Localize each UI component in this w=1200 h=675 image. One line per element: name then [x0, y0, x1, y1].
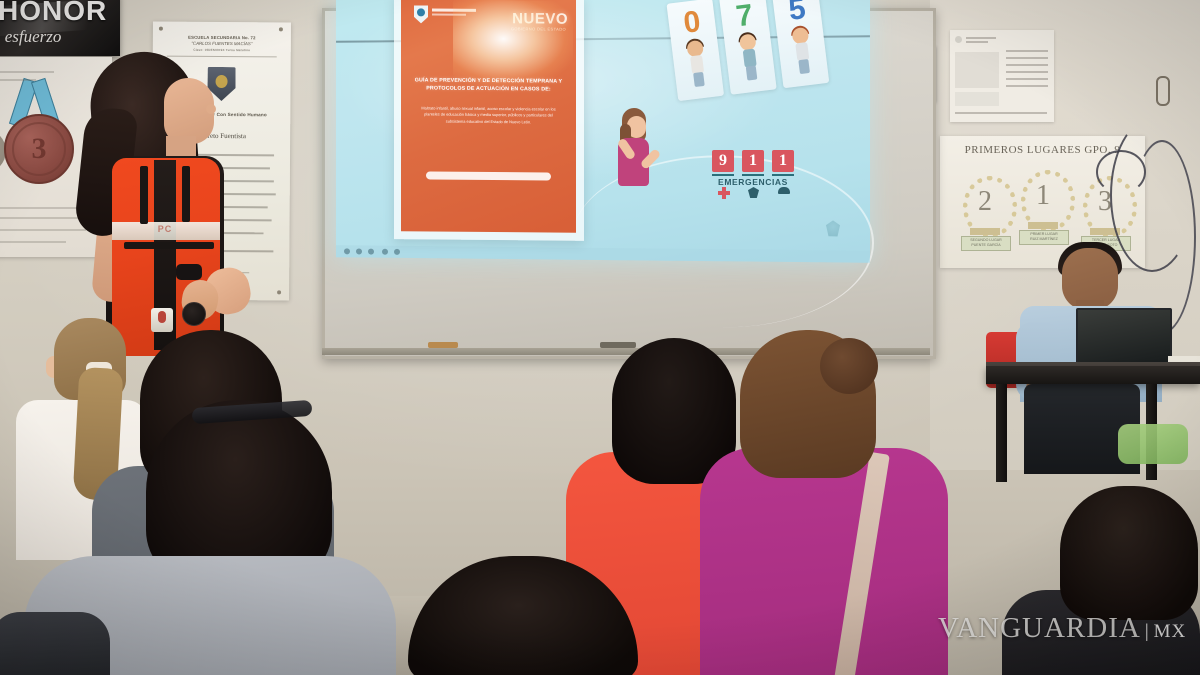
watermark-suffix: MX	[1154, 621, 1187, 643]
vest-strap	[124, 242, 214, 249]
poster-line	[0, 217, 80, 219]
kid-card: 7	[719, 0, 777, 95]
doc-line	[1006, 78, 1048, 80]
doc-line	[966, 37, 996, 39]
doc-line	[1006, 85, 1048, 87]
school-name-line1: ESCUELA SECUNDARIA No. 72	[153, 35, 291, 41]
cable-hook	[1156, 76, 1170, 106]
fire-truck-icon	[778, 187, 790, 197]
honor-banner-subtitle: a esfuerzo	[0, 27, 61, 47]
kid-legs	[693, 72, 705, 87]
watermark-separator: |	[1145, 621, 1150, 643]
poster-line	[0, 71, 54, 73]
police-shield-icon	[748, 187, 760, 197]
photo-scene: HONOR a esfuerzo 3 ESCUELA SECUNDARIA No…	[0, 0, 1200, 675]
hanging-cable	[1096, 150, 1146, 194]
trophy-base	[1028, 222, 1058, 229]
vest-strap	[182, 166, 190, 222]
poster-tack	[277, 290, 281, 294]
cartoon-woman-calling	[608, 108, 664, 204]
poster-line	[0, 241, 66, 243]
poster-line	[0, 229, 86, 231]
emergency-underline	[772, 174, 794, 176]
trophy-first: 1 PRIMER LUGAR RUIZ MARTÍNEZ	[1016, 164, 1070, 244]
whiteboard-marker[interactable]	[600, 342, 636, 348]
slide-body-text: Maltrato infantil, abuso sexual infantil…	[417, 105, 560, 125]
attendee-magenta-body	[700, 448, 948, 675]
trophy-base	[970, 228, 1000, 235]
whiteboard-eraser[interactable]	[428, 342, 458, 348]
watermark-main: VANGUARDIA	[938, 612, 1141, 645]
doc-block	[955, 92, 999, 106]
watermark: VANGUARDIA | MX	[938, 612, 1186, 645]
doc-line	[1006, 71, 1048, 73]
medical-cross-icon	[718, 187, 730, 197]
poster-tack	[279, 27, 283, 31]
emergency-911-logo: 9 1 1 EMERGENCIAS	[712, 150, 794, 198]
doc-table-block	[955, 52, 999, 88]
kid-card: 5	[772, 0, 830, 88]
presenter-vest-pocket-item	[151, 308, 173, 332]
trophy-plate-line2: RUIZ MARTÍNEZ	[1020, 237, 1068, 242]
doc-line	[966, 41, 988, 43]
emergency-digit: 1	[742, 150, 764, 172]
attendee-bottom-left-body	[0, 612, 110, 675]
presenter-wrist-accessory	[176, 264, 202, 280]
projector-lens-flare	[453, 0, 573, 87]
vest-strap	[140, 166, 148, 224]
pause-icon[interactable]	[356, 248, 362, 254]
emergency-underline	[712, 174, 734, 176]
kid-figure	[683, 39, 710, 87]
trophy-second: 2 SEGUNDO LUGAR PUENTE GARCÍA	[958, 170, 1012, 250]
school-name-line2: "CARLOS FUENTES MACÍAS"	[153, 41, 291, 47]
stop-icon[interactable]	[368, 249, 374, 255]
doc-line	[955, 112, 1047, 114]
kid-card-letter: 7	[720, 0, 770, 36]
attendee-right-hair	[1060, 486, 1198, 620]
floor-green-object	[1118, 424, 1188, 464]
trophy-place: 2	[958, 186, 1012, 218]
emergency-underline	[742, 174, 764, 176]
trophy-plate: PRIMER LUGAR RUIZ MARTÍNEZ	[1019, 230, 1069, 245]
presenter-badge	[182, 302, 206, 326]
poster-tack	[159, 27, 163, 31]
slide-footer-pill	[426, 171, 551, 180]
attendee-hair-bun	[820, 338, 878, 394]
presenter-nose	[206, 104, 216, 114]
trophy-plate-line2: PUENTE GARCÍA	[962, 243, 1010, 248]
desk	[986, 366, 1200, 384]
slide-title: GUÍA DE PREVENCIÓN Y DE DETECCIÓN TEMPRA…	[411, 77, 566, 94]
kid-legs	[746, 65, 758, 80]
emergency-digit: 9	[712, 150, 734, 172]
play-icon[interactable]	[344, 248, 350, 254]
presenter-person: PC	[78, 52, 253, 352]
kid-figure	[736, 33, 763, 81]
gobierno-nuevo-leon-shield-icon	[414, 5, 428, 23]
doc-line	[1006, 64, 1048, 66]
emergency-digit: 1	[772, 150, 794, 172]
next-icon[interactable]	[394, 249, 400, 255]
presenter-vest-text: PC	[114, 224, 216, 234]
kid-legs	[798, 59, 810, 74]
medal-ring	[12, 122, 66, 176]
desk-leg	[996, 384, 1007, 482]
slide-cover-card: NUEVO GOBIERNO DEL ESTADO GUÍA DE PREVEN…	[401, 0, 576, 233]
emergency-label: EMERGENCIAS	[712, 177, 794, 187]
doc-line	[1006, 50, 1048, 52]
kid-card-letter: 0	[667, 3, 717, 42]
doc-line	[1006, 57, 1048, 59]
trophy-plate: SEGUNDO LUGAR PUENTE GARCÍA	[961, 236, 1011, 251]
prev-icon[interactable]	[382, 249, 388, 255]
wall-document	[950, 30, 1054, 122]
poster-line	[0, 79, 36, 81]
honor-banner: HONOR a esfuerzo	[0, 0, 120, 56]
doc-logo-icon	[955, 36, 962, 43]
trophy-place: 1	[1016, 180, 1070, 212]
kid-figure	[788, 27, 815, 75]
honor-banner-word: HONOR	[0, 0, 107, 27]
